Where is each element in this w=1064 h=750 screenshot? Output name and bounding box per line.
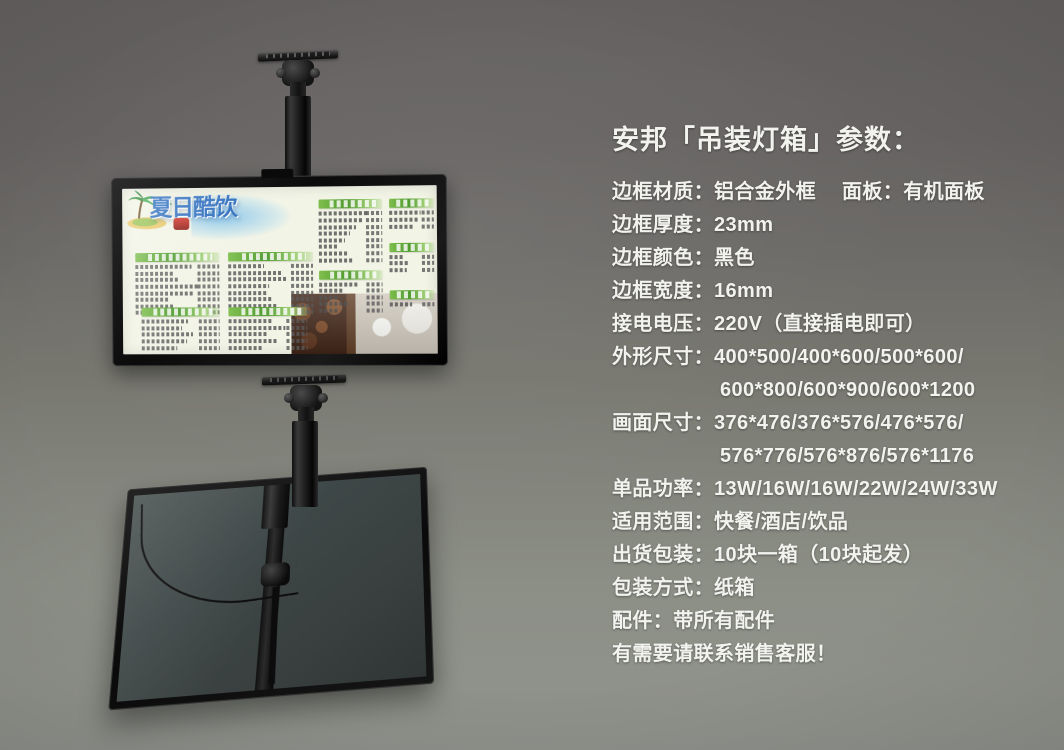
knuckle-bolt-right-icon <box>310 68 320 78</box>
menu-row <box>390 302 435 306</box>
menu-row <box>389 224 434 228</box>
menu-row <box>319 244 382 249</box>
spec-line: 边框厚度：23mm <box>612 209 1058 242</box>
section-header <box>228 252 313 262</box>
menu-row <box>142 326 220 330</box>
menu-row <box>228 277 313 282</box>
lightbox-display: 夏日酷饮 <box>111 174 448 366</box>
spec-line-list: 边框材质：铝合金外框面板：有机面板边框厚度：23mm边框颜色：黑色边框宽度：16… <box>612 176 1058 671</box>
section-rows <box>319 211 383 262</box>
section-header <box>389 242 434 251</box>
menu-row <box>319 238 382 243</box>
section-rows <box>142 319 220 349</box>
section-header <box>319 199 383 209</box>
menu-row <box>142 333 220 337</box>
menu-row <box>320 288 383 292</box>
knuckle-bolt-left-icon <box>276 68 286 78</box>
menu-sections <box>122 185 438 354</box>
spec-line: 边框宽度：16mm <box>612 275 1058 308</box>
spec-line: 接电电压：220V（直接插电即可） <box>612 308 1058 341</box>
menu-section <box>319 199 383 265</box>
menu-row <box>389 211 434 215</box>
menu-row <box>389 268 434 272</box>
spec-line: 包装方式：纸箱 <box>612 572 1058 605</box>
spec-title: 安邦「吊装灯箱」参数： <box>612 124 1058 156</box>
menu-row <box>389 217 434 221</box>
menu-row <box>228 290 313 294</box>
section-header <box>389 290 434 299</box>
menu-section <box>389 242 434 274</box>
menu-row <box>142 346 220 350</box>
menu-row <box>229 319 308 323</box>
cable-tail-icon <box>268 587 279 685</box>
section-header <box>319 270 383 279</box>
menu-row <box>135 271 219 276</box>
menu-section <box>319 270 383 316</box>
menu-row <box>229 339 308 343</box>
knuckle-bolt-left-icon <box>284 393 294 403</box>
spec-line: 600*800/600*900/600*1200 <box>612 374 1058 407</box>
menu-row <box>135 284 219 288</box>
menu-row <box>319 258 382 262</box>
menu-row <box>228 270 313 275</box>
back-panel-seam <box>270 485 279 689</box>
spec-line: 配件：带所有配件 <box>612 605 1058 638</box>
menu-section <box>229 307 308 352</box>
spec-line: 单品功率：13W/16W/16W/22W/24W/33W <box>612 473 1058 506</box>
menu-row <box>135 278 219 283</box>
menu-row <box>229 332 308 336</box>
menu-row <box>389 255 434 259</box>
spec-line: 有需要请联系销售客服！ <box>612 638 1058 671</box>
menu-row <box>135 265 219 270</box>
menu-row <box>229 326 308 330</box>
menu-row <box>228 264 313 269</box>
menu-row <box>389 261 434 265</box>
lightbox-top-tab-icon <box>261 169 293 178</box>
knuckle-bolt-right-icon <box>318 393 328 403</box>
menu-row <box>135 297 219 301</box>
lower-mount-bracket <box>258 374 358 504</box>
menu-row <box>319 231 382 236</box>
section-rows <box>389 211 434 229</box>
spec-line: 画面尺寸：376*476/376*576/476*576/ <box>612 407 1058 440</box>
menu-row <box>142 339 220 343</box>
back-panel-strut <box>254 484 287 690</box>
menu-row <box>228 284 313 289</box>
menu-row <box>320 295 383 299</box>
menu-row <box>228 297 313 301</box>
menu-section <box>389 290 434 309</box>
spec-line: 边框颜色：黑色 <box>612 242 1058 275</box>
spec-block: 安邦「吊装灯箱」参数： 边框材质：铝合金外框面板：有机面板边框厚度：23mm边框… <box>612 124 1058 671</box>
menu-row <box>320 308 383 312</box>
section-header <box>141 308 219 317</box>
spec-line: 出货包装：10块一箱（10块起发） <box>612 539 1058 572</box>
section-rows <box>389 255 434 273</box>
menu-row <box>319 251 382 256</box>
menu-row <box>320 302 383 306</box>
menu-row <box>319 218 382 223</box>
mount-joint-icon <box>260 561 290 586</box>
spec-line: 边框材质：铝合金外框面板：有机面板 <box>612 176 1058 209</box>
menu-panel: 夏日酷饮 <box>122 185 438 354</box>
section-header <box>389 199 434 209</box>
section-rows <box>229 319 308 350</box>
product-photo-stage: 夏日酷饮 <box>0 0 1064 750</box>
section-header <box>135 253 219 263</box>
back-panel-face <box>117 474 427 702</box>
spec-line: 外形尺寸：400*500/400*600/500*600/ <box>612 341 1058 374</box>
menu-row <box>319 211 382 216</box>
menu-row <box>135 291 219 295</box>
lightbox-aluminum-frame: 夏日酷饮 <box>111 174 448 366</box>
menu-row <box>320 282 383 286</box>
spec-line-secondary: 面板：有机面板 <box>842 181 985 203</box>
menu-section <box>389 199 434 231</box>
section-rows <box>320 282 384 313</box>
spec-line-primary: 边框材质：铝合金外框 <box>612 181 816 203</box>
spec-line: 576*776/576*876/576*1176 <box>612 440 1058 473</box>
spec-line: 适用范围：快餐/酒店/饮品 <box>612 506 1058 539</box>
menu-row <box>229 346 308 350</box>
menu-section <box>141 308 219 353</box>
section-rows <box>390 302 435 306</box>
section-header <box>229 307 308 316</box>
drop-pole-icon <box>292 421 318 507</box>
ceiling-mount-bracket <box>252 48 348 188</box>
menu-row <box>319 225 382 230</box>
menu-row <box>142 319 220 323</box>
